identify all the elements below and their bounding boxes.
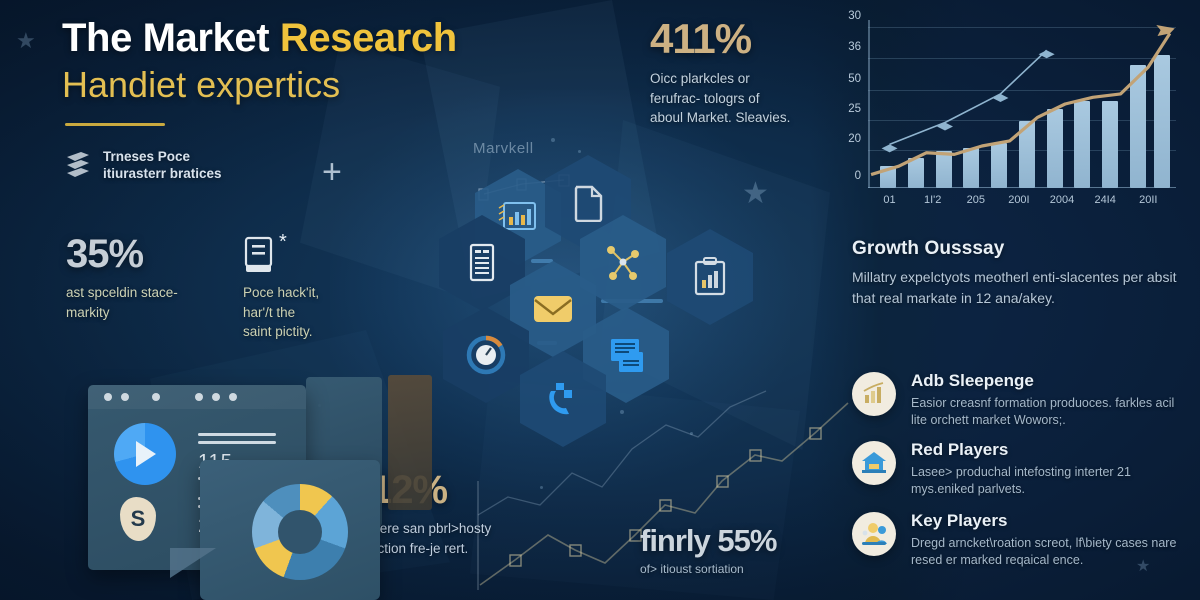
gauge-speedometer-icon	[464, 333, 508, 377]
window-dot	[152, 393, 160, 401]
asterisk-icon: *	[279, 232, 287, 252]
stat-caption: of> itioust sortiation	[640, 561, 870, 578]
chart-y-tick-label: 0	[855, 170, 861, 182]
dashboard-rule	[198, 433, 276, 436]
hex-connector	[531, 259, 553, 263]
chart-y-tick-label: 25	[848, 103, 861, 115]
title-divider	[65, 123, 165, 126]
stat-block-55: finrly 55% of> itioust sortiation	[640, 525, 870, 578]
stat-caption: Oicc plarkcles or ferufrac- tologrs of a…	[650, 69, 840, 128]
chart-trend-lines	[868, 20, 1176, 188]
window-dot	[104, 393, 112, 401]
title-block: The Market Research Handiet expertics	[62, 16, 602, 126]
chart-y-tick-label: 30	[848, 10, 861, 22]
network-nodes-icon	[602, 243, 644, 283]
dashboard-rule	[198, 441, 276, 444]
feature-item[interactable]: Red PlayersLasee> produchal intefosting …	[852, 441, 1182, 499]
chart-y-tick-label: 20	[848, 133, 861, 145]
growth-hand-icon	[544, 379, 582, 419]
plus-decor-icon: +	[322, 155, 342, 189]
note-caption: Poce hack'it, har'/t the saint pictity.	[243, 283, 363, 342]
title-part-primary: The Market	[62, 16, 280, 60]
growth-bar-chart: 02025503630 011I'2205200I200424I420II	[832, 14, 1184, 214]
growth-summary: Growth Ousssay Millatry expelctyots meot…	[852, 238, 1182, 309]
brand-text: Trneses Poce itiurasterr bratices	[103, 148, 222, 183]
envelope-mail-icon	[531, 292, 575, 326]
donut-card[interactable]	[200, 460, 380, 600]
chart-x-tick-label: 24I4	[1094, 194, 1115, 206]
people-group-icon	[852, 512, 896, 556]
chart-series-marker	[937, 122, 953, 130]
chart-x-tick-label: 20II	[1139, 194, 1157, 206]
triangle-decor	[170, 548, 216, 578]
chart-series-marker	[1039, 50, 1055, 58]
building-house-icon	[852, 441, 896, 485]
book-icon-wrap: *	[243, 236, 277, 274]
bg-dot	[578, 150, 581, 153]
hex-icon-cluster	[455, 155, 755, 425]
brand-line-2: itiurasterr bratices	[103, 165, 222, 182]
stat-block-411: 411% Oicc plarkcles or ferufrac- tologrs…	[650, 18, 840, 128]
feature-body: Easior creasnf formation produoces. fark…	[911, 395, 1182, 431]
window-dot	[121, 393, 129, 401]
page-title: The Market Research	[62, 16, 602, 61]
brand-badge: Trneses Poce itiurasterr bratices	[64, 148, 222, 183]
dashboard-titlebar	[88, 385, 306, 409]
dash-strip-panel	[388, 375, 432, 510]
book-icon	[243, 236, 277, 274]
bar-chart-icon	[852, 372, 896, 416]
star-decor-icon: ★	[16, 28, 36, 54]
stat-value: 411%	[650, 18, 840, 60]
feature-item[interactable]: Adb SleepengeEasior creasnf formation pr…	[852, 372, 1182, 430]
feature-body: Dregd arncket\roation screot, lf\biety c…	[911, 535, 1182, 571]
window-dot	[212, 393, 220, 401]
chart-x-tick-label: 205	[967, 194, 985, 206]
stat-value: finrly 55%	[640, 525, 870, 556]
brand-line-1: Trneses Poce	[103, 148, 222, 165]
badge-letter: S	[120, 497, 156, 541]
growth-summary-body: Millatry expelctyots meotherl enti-slace…	[852, 267, 1182, 309]
chart-trend-arrowhead	[1156, 25, 1174, 36]
feature-title: Red Players	[911, 441, 1182, 460]
server-rack-icon	[466, 243, 498, 283]
chart-series-marker	[992, 94, 1008, 102]
feature-title: Adb Sleepenge	[911, 372, 1182, 391]
document-file-icon	[571, 184, 605, 222]
chart-series-marker	[882, 144, 898, 152]
stat-caption: Here san pbrl>hosty uction fre-je rert.	[370, 519, 570, 558]
window-dot	[229, 393, 237, 401]
stacked-slash-logo-icon	[64, 150, 92, 180]
chart-x-tick-label: 2004	[1050, 194, 1074, 206]
feature-body: Lasee> produchal intefosting interter 21…	[911, 464, 1182, 500]
title-part-accent: Research	[280, 16, 457, 60]
play-button-icon[interactable]	[136, 441, 156, 467]
chart-x-tick-label: 200I	[1008, 194, 1029, 206]
donut-chart-icon	[252, 484, 348, 580]
feature-item[interactable]: Key PlayersDregd arncket\roation screot,…	[852, 512, 1182, 570]
hex-tile-clipboard[interactable]	[667, 229, 753, 325]
chart-y-tick-label: 50	[848, 73, 861, 85]
chart-x-tick-label: 1I'2	[924, 194, 941, 206]
chart-x-tick-label: 01	[883, 194, 895, 206]
growth-summary-title: Growth Ousssay	[852, 238, 1182, 260]
feature-title: Key Players	[911, 512, 1182, 531]
window-dot	[195, 393, 203, 401]
document-stack-icon	[605, 336, 647, 374]
page-subtitle: Handiet expertics	[62, 63, 602, 106]
bg-dot	[551, 138, 555, 142]
clipboard-chart-icon	[692, 257, 728, 297]
chart-plot-area: 02025503630 011I'2205200I200424I420II	[868, 20, 1176, 188]
chart-y-tick-label: 36	[848, 41, 861, 53]
note-card: * Poce hack'it, har'/t the saint pictity…	[243, 236, 363, 342]
chart-series-line	[871, 33, 1170, 174]
